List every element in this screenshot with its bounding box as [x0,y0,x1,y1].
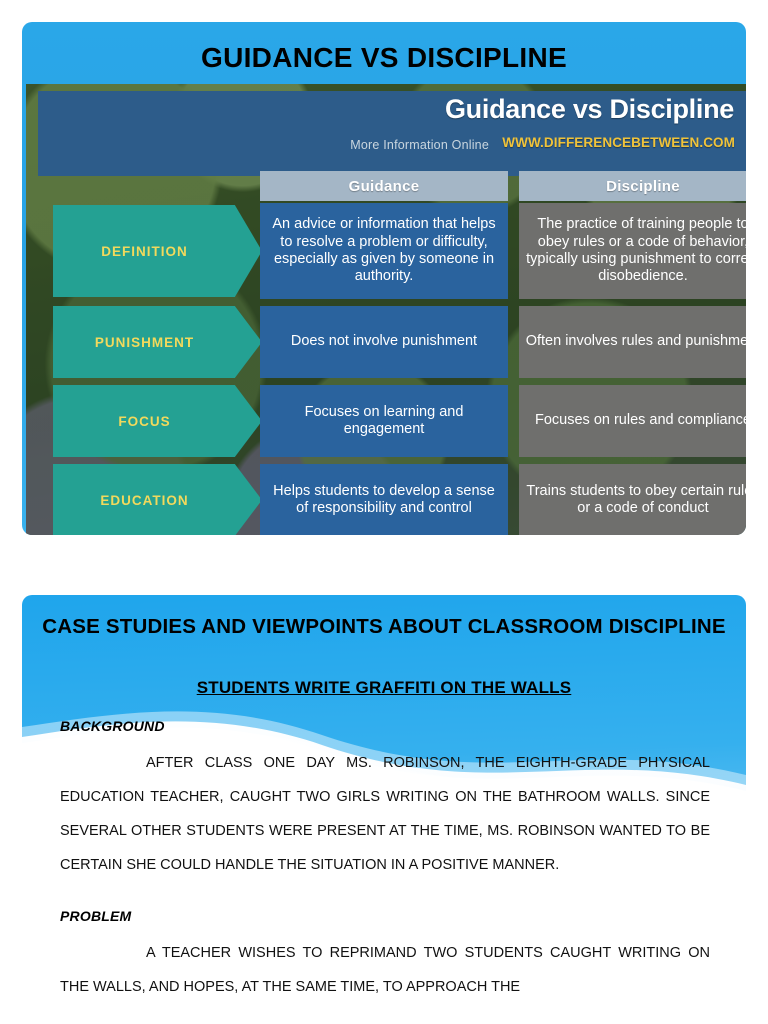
infographic-website-url: WWW.DIFFERENCEBETWEEN.COM [502,135,735,150]
section-heading-problem: PROBLEM [60,908,710,924]
section-heading-background: BACKGROUND [60,718,710,734]
column-header-guidance: Guidance [260,171,508,201]
slide-guidance-vs-discipline: GUIDANCE VS DISCIPLINE Guidance vs Disci… [22,22,746,535]
paragraph-background: AFTER CLASS ONE DAY MS. ROBINSON, THE EI… [60,746,710,882]
row-label-focus: FOCUS [53,385,262,457]
infographic-title: Guidance vs Discipline [445,94,734,125]
row-label-definition: DEFINITION [53,205,262,297]
column-header-discipline: Discipline [519,171,746,201]
cell-discipline-punishment: Often involves rules and punishment [519,306,746,378]
row-label-education: EDUCATION [53,464,262,535]
cell-guidance-punishment: Does not involve punishment [260,306,508,378]
slide-two-subtitle: STUDENTS WRITE GRAFFITI ON THE WALLS [22,678,746,698]
infographic-more-info-label: More Information Online [350,138,489,152]
cell-guidance-education: Helps students to develop a sense of res… [260,464,508,535]
paragraph-problem: A TEACHER WISHES TO REPRIMAND TWO STUDEN… [60,936,710,1004]
cell-discipline-focus: Focuses on rules and compliance [519,385,746,457]
cell-discipline-education: Trains students to obey certain rules or… [519,464,746,535]
cell-guidance-definition: An advice or information that helps to r… [260,203,508,299]
slide-case-studies: CASE STUDIES AND VIEWPOINTS ABOUT CLASSR… [22,595,746,1024]
infographic-image: Guidance vs Discipline More Information … [26,84,746,535]
slide-two-title: CASE STUDIES AND VIEWPOINTS ABOUT CLASSR… [22,613,746,641]
row-label-punishment: PUNISHMENT [53,306,262,378]
cell-guidance-focus: Focuses on learning and engagement [260,385,508,457]
cell-discipline-definition: The practice of training people to obey … [519,203,746,299]
body-copy: BACKGROUND AFTER CLASS ONE DAY MS. ROBIN… [60,718,710,1004]
page-title: GUIDANCE VS DISCIPLINE [22,42,746,74]
